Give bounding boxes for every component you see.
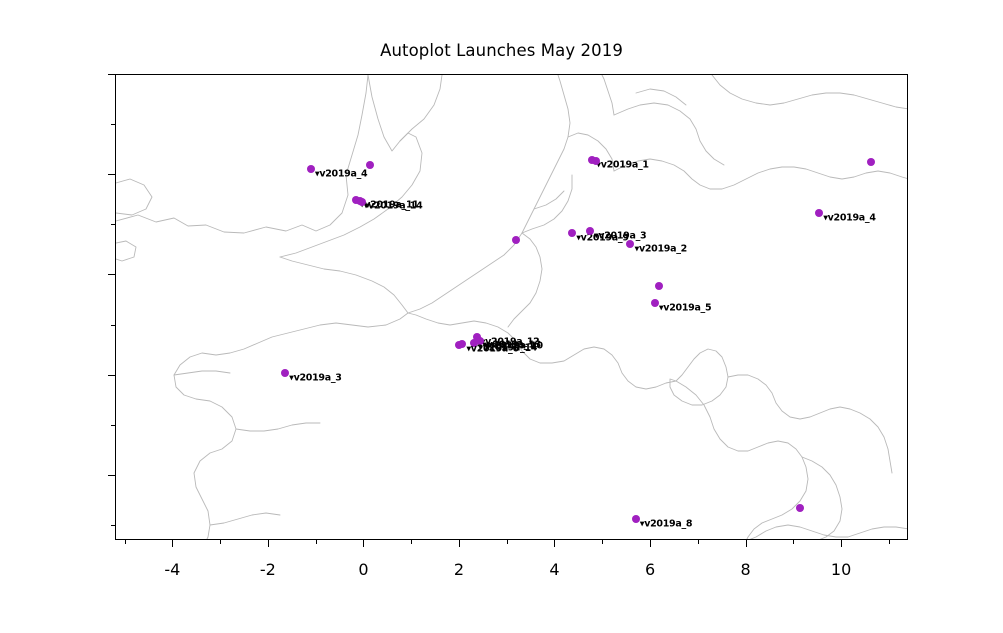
- x-tick: [650, 540, 651, 547]
- y-tick: [108, 74, 115, 75]
- x-tick: [268, 540, 269, 547]
- x-tick-minor: [411, 540, 412, 544]
- x-tick-minor: [125, 540, 126, 544]
- x-tick-minor: [220, 540, 221, 544]
- y-tick-minor: [111, 224, 115, 225]
- y-tick: [108, 475, 115, 476]
- x-tick-label: 10: [831, 560, 851, 579]
- x-tick: [459, 540, 460, 547]
- x-tick-minor: [316, 540, 317, 544]
- x-tick-label: 0: [358, 560, 368, 579]
- chart-root: Autoplot Launches May 2019: [0, 0, 1003, 633]
- x-tick: [554, 540, 555, 547]
- x-tick-label: 2: [454, 560, 464, 579]
- axis-ticks: 4648505254 -4-20246810: [115, 74, 908, 540]
- x-tick: [746, 540, 747, 547]
- x-tick-minor: [793, 540, 794, 544]
- x-tick: [841, 540, 842, 547]
- x-tick-label: -2: [260, 560, 276, 579]
- x-tick-label: 8: [740, 560, 750, 579]
- y-tick: [108, 375, 115, 376]
- chart-title: Autoplot Launches May 2019: [0, 41, 1003, 60]
- x-tick-label: 6: [645, 560, 655, 579]
- y-tick-minor: [111, 425, 115, 426]
- y-tick-minor: [111, 325, 115, 326]
- y-tick: [108, 174, 115, 175]
- x-tick-minor: [889, 540, 890, 544]
- x-tick-minor: [507, 540, 508, 544]
- y-tick-minor: [111, 525, 115, 526]
- y-tick: [108, 274, 115, 275]
- x-tick-label: -4: [164, 560, 180, 579]
- y-tick-minor: [111, 124, 115, 125]
- x-tick-minor: [698, 540, 699, 544]
- x-tick-label: 4: [549, 560, 559, 579]
- x-tick: [363, 540, 364, 547]
- x-tick-minor: [602, 540, 603, 544]
- x-tick: [172, 540, 173, 547]
